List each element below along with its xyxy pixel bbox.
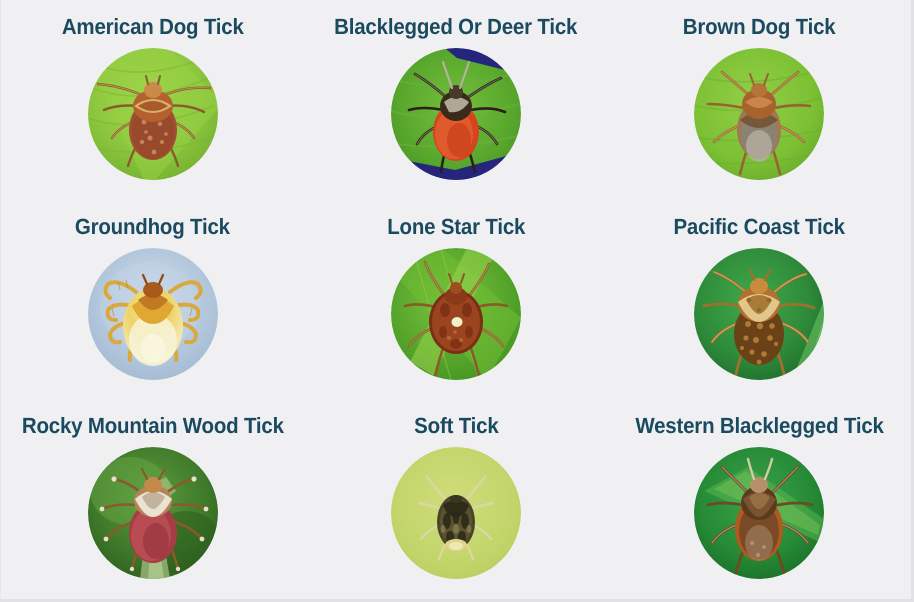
tick-card-soft-tick[interactable]: Soft Tick (304, 399, 607, 599)
groundhog-tick-photo[interactable] (88, 248, 218, 380)
blacklegged-tick-photo[interactable] (391, 48, 521, 180)
brown-dog-tick-photo[interactable] (694, 48, 824, 180)
tick-label: American Dog Tick (62, 14, 244, 40)
rocky-mountain-wood-tick-photo[interactable] (88, 447, 218, 579)
tick-label: Soft Tick (414, 413, 498, 439)
tick-card-blacklegged-or-deer-tick[interactable]: Blacklegged Or Deer Tick (304, 0, 607, 200)
tick-grid: American Dog Tick (1, 0, 911, 599)
tick-card-american-dog-tick[interactable]: American Dog Tick (1, 0, 304, 200)
tick-card-brown-dog-tick[interactable]: Brown Dog Tick (608, 0, 911, 200)
tick-card-western-blacklegged-tick[interactable]: Western Blacklegged Tick (608, 399, 911, 599)
tick-card-rocky-mountain-wood-tick[interactable]: Rocky Mountain Wood Tick (1, 399, 304, 599)
tick-label: Blacklegged Or Deer Tick (334, 14, 577, 40)
american-dog-tick-photo[interactable] (88, 48, 218, 180)
tick-chart-page: American Dog Tick (0, 0, 914, 602)
tick-card-pacific-coast-tick[interactable]: Pacific Coast Tick (608, 200, 911, 400)
tick-label: Lone Star Tick (387, 214, 525, 240)
tick-label: Rocky Mountain Wood Tick (22, 413, 284, 439)
tick-label: Brown Dog Tick (683, 14, 836, 40)
lone-star-tick-photo[interactable] (391, 248, 521, 380)
soft-tick-photo[interactable] (391, 447, 521, 579)
tick-label: Western Blacklegged Tick (635, 413, 883, 439)
tick-card-groundhog-tick[interactable]: Groundhog Tick (1, 200, 304, 400)
tick-card-lone-star-tick[interactable]: Lone Star Tick (304, 200, 607, 400)
tick-label: Groundhog Tick (75, 214, 230, 240)
tick-label: Pacific Coast Tick (674, 214, 845, 240)
western-blacklegged-tick-photo[interactable] (694, 447, 824, 579)
pacific-coast-tick-photo[interactable] (694, 248, 824, 380)
